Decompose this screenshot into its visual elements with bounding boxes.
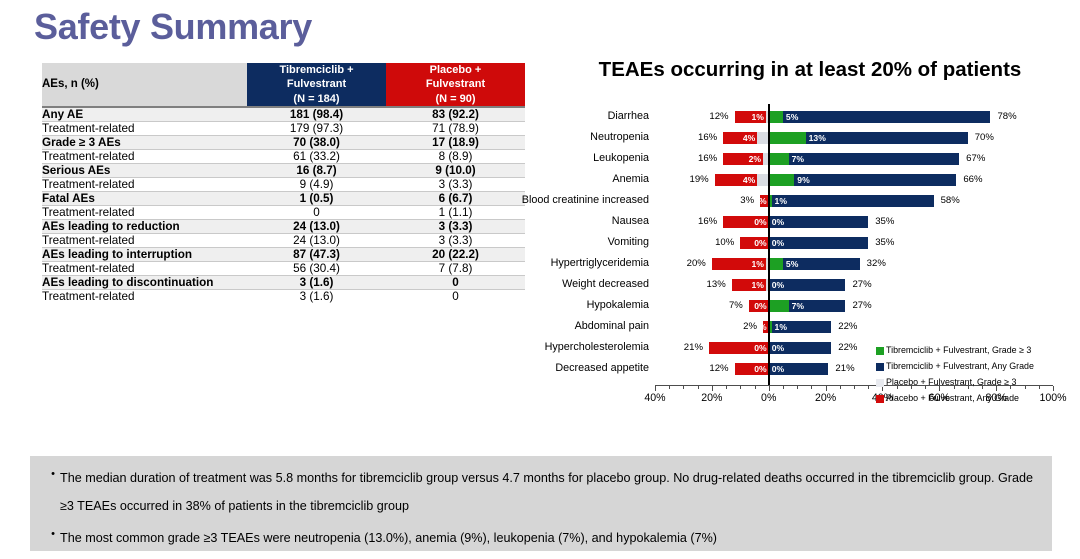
chart-legend: Tibremciclib + Fulvestrant, Grade ≥ 3Tib… xyxy=(876,345,1072,409)
safety-summary-table: AEs, n (%) Tibremciclib + Fulvestrant (N… xyxy=(42,63,525,303)
cell-tibremciclib: 0 xyxy=(247,205,386,219)
bar-segment-tibremciclib-grade3 xyxy=(769,153,789,165)
chart-bar-row: Vomiting0%10%0%35% xyxy=(540,232,1068,253)
row-label: Treatment-related xyxy=(42,149,247,163)
bar-segment-tibremciclib-grade3 xyxy=(769,132,806,144)
bar-category-label: Leukopenia xyxy=(499,148,649,169)
bar-label-placebo-grade3: 0% xyxy=(743,216,767,228)
table-row: Treatment-related9 (4.9)3 (3.3) xyxy=(42,177,525,191)
bar-label-tibremciclib-any-grade: 67% xyxy=(966,152,985,165)
arm2-line1: Placebo + xyxy=(386,63,525,77)
bar-label-tibremciclib-grade3: 7% xyxy=(792,153,804,165)
bar-label-tibremciclib-any-grade: 78% xyxy=(997,110,1016,123)
table-row: Treatment-related56 (30.4)7 (7.8) xyxy=(42,261,525,275)
cell-tibremciclib: 56 (30.4) xyxy=(247,261,386,275)
column-header-tibremciclib: Tibremciclib + Fulvestrant (N = 184) xyxy=(247,63,386,107)
bar-category-label: Abdominal pain xyxy=(499,316,649,337)
legend-item: Tibremciclib + Fulvestrant, Any Grade xyxy=(876,361,1072,372)
bar-label-tibremciclib-grade3: 13% xyxy=(809,132,826,144)
axis-tick xyxy=(712,386,713,391)
bar-label-placebo-grade3: 0% xyxy=(743,363,767,375)
table-row: AEs leading to interruption87 (47.3)20 (… xyxy=(42,247,525,261)
table-row: Serious AEs16 (8.7)9 (10.0) xyxy=(42,163,525,177)
row-label: Fatal AEs xyxy=(42,191,247,205)
zero-axis-line xyxy=(768,104,770,385)
bar-category-label: Hypercholesterolemia xyxy=(499,337,649,358)
bar-label-tibremciclib-any-grade: 21% xyxy=(835,362,854,375)
axis-tick xyxy=(826,386,827,391)
row-label: Treatment-related xyxy=(42,233,247,247)
bar-category-label: Nausea xyxy=(499,211,649,232)
table-row: AEs leading to discontinuation3 (1.6)0 xyxy=(42,275,525,289)
footer-bullet: • The most common grade ≥3 TEAEs were ne… xyxy=(30,520,1052,552)
legend-label: Placebo + Fulvestrant, Grade ≥ 3 xyxy=(886,377,1016,388)
bar-label-placebo-any-grade: 10% xyxy=(708,236,734,249)
row-label: AEs leading to discontinuation xyxy=(42,275,247,289)
row-label: Treatment-related xyxy=(42,205,247,219)
bar-segment-tibremciclib-grade3 xyxy=(769,111,783,123)
bar-label-tibremciclib-grade3: 0% xyxy=(772,216,784,228)
bar-segment-tibremciclib-any-grade xyxy=(783,111,991,123)
table-row: Any AE181 (98.4)83 (92.2) xyxy=(42,107,525,122)
bar-label-placebo-grade3: 4% xyxy=(731,132,755,144)
bar-label-tibremciclib-grade3: 5% xyxy=(786,258,798,270)
bar-category-label: Decreased appetite xyxy=(499,358,649,379)
footer-bullet: • The median duration of treatment was 5… xyxy=(30,456,1052,520)
bullet-marker: • xyxy=(46,464,60,520)
table-row: AEs leading to reduction24 (13.0)3 (3.3) xyxy=(42,219,525,233)
chart-bar-row: Neutropenia4%16%13%70% xyxy=(540,127,1068,148)
bar-segment-tibremciclib-grade3 xyxy=(769,300,789,312)
row-label: AEs leading to interruption xyxy=(42,247,247,261)
axis-tick xyxy=(840,386,841,389)
bar-label-tibremciclib-grade3: 9% xyxy=(797,174,809,186)
bar-label-placebo-any-grade: 13% xyxy=(700,278,726,291)
bar-segment-tibremciclib-any-grade xyxy=(794,174,956,186)
bar-category-label: Vomiting xyxy=(499,232,649,253)
chart-bar-row: Blood creatinine increased0%3%1%58% xyxy=(540,190,1068,211)
bar-label-placebo-any-grade: 12% xyxy=(703,362,729,375)
chart-bar-row: Leukopenia2%16%7%67% xyxy=(540,148,1068,169)
bar-label-placebo-grade3: 1% xyxy=(740,111,764,123)
axis-tick xyxy=(698,386,699,389)
axis-tick xyxy=(726,386,727,389)
axis-tick xyxy=(854,386,855,389)
bar-label-placebo-any-grade: 19% xyxy=(683,173,709,186)
arm2-line2: Fulvestrant xyxy=(386,77,525,91)
axis-tick xyxy=(740,386,741,389)
bar-label-tibremciclib-grade3: 5% xyxy=(786,111,798,123)
page-title: Safety Summary xyxy=(34,6,312,48)
cell-tibremciclib: 179 (97.3) xyxy=(247,121,386,135)
bar-label-tibremciclib-grade3: 0% xyxy=(772,363,784,375)
table-row: Grade ≥ 3 AEs70 (38.0)17 (18.9) xyxy=(42,135,525,149)
axis-tick xyxy=(783,386,784,389)
bar-label-tibremciclib-grade3: 1% xyxy=(775,321,787,333)
bar-category-label: Hypokalemia xyxy=(499,295,649,316)
bar-label-tibremciclib-any-grade: 32% xyxy=(867,257,886,270)
bar-category-label: Hypertriglyceridemia xyxy=(499,253,649,274)
axis-tick-label: 40% xyxy=(630,392,680,404)
table-row: Treatment-related3 (1.6)0 xyxy=(42,289,525,303)
cell-tibremciclib: 24 (13.0) xyxy=(247,233,386,247)
bar-label-tibremciclib-grade3: 7% xyxy=(792,300,804,312)
bar-segment-tibremciclib-grade3 xyxy=(769,258,783,270)
bar-segment-tibremciclib-grade3 xyxy=(769,174,795,186)
chart-bar-row: Weight decreased1%13%0%27% xyxy=(540,274,1068,295)
legend-item: Tibremciclib + Fulvestrant, Grade ≥ 3 xyxy=(876,345,1072,356)
bar-label-tibremciclib-any-grade: 66% xyxy=(963,173,982,186)
bar-label-tibremciclib-any-grade: 22% xyxy=(838,341,857,354)
bar-label-placebo-any-grade: 12% xyxy=(703,110,729,123)
bullet-marker: • xyxy=(46,524,60,552)
row-label: Treatment-related xyxy=(42,121,247,135)
bar-label-tibremciclib-grade3: 0% xyxy=(772,279,784,291)
chart-bar-row: Hypertriglyceridemia1%20%5%32% xyxy=(540,253,1068,274)
footer-notes: • The median duration of treatment was 5… xyxy=(30,456,1052,551)
bar-label-tibremciclib-grade3: 0% xyxy=(772,342,784,354)
arm1-line3: (N = 184) xyxy=(247,92,386,106)
axis-tick xyxy=(868,386,869,389)
cell-tibremciclib: 24 (13.0) xyxy=(247,219,386,233)
bar-label-tibremciclib-any-grade: 27% xyxy=(852,299,871,312)
arm1-line2: Fulvestrant xyxy=(247,77,386,91)
cell-tibremciclib: 70 (38.0) xyxy=(247,135,386,149)
table-header: AEs, n (%) Tibremciclib + Fulvestrant (N… xyxy=(42,63,525,107)
bar-category-label: Neutropenia xyxy=(499,127,649,148)
bar-category-label: Diarrhea xyxy=(499,106,649,127)
cell-tibremciclib: 3 (1.6) xyxy=(247,275,386,289)
bar-label-placebo-grade3: 0% xyxy=(743,300,767,312)
bar-segment-tibremciclib-any-grade xyxy=(806,132,968,144)
table-row: Treatment-related01 (1.1) xyxy=(42,205,525,219)
axis-tick-label: 0% xyxy=(744,392,794,404)
chart-title: TEAEs occurring in at least 20% of patie… xyxy=(560,58,1060,82)
bar-label-placebo-any-grade: 7% xyxy=(717,299,743,312)
row-label: AEs leading to reduction xyxy=(42,219,247,233)
axis-tick-label: 20% xyxy=(801,392,851,404)
bar-label-placebo-grade3: 1% xyxy=(740,279,764,291)
axis-tick xyxy=(755,386,756,389)
bar-label-placebo-any-grade: 3% xyxy=(728,194,754,207)
chart-bar-row: Hypokalemia0%7%7%27% xyxy=(540,295,1068,316)
bar-label-tibremciclib-grade3: 0% xyxy=(772,237,784,249)
column-header-aes: AEs, n (%) xyxy=(42,63,247,107)
bar-label-placebo-any-grade: 2% xyxy=(731,320,757,333)
column-header-placebo: Placebo + Fulvestrant (N = 90) xyxy=(386,63,525,107)
table-body: Any AE181 (98.4)83 (92.2)Treatment-relat… xyxy=(42,107,525,303)
axis-tick-label: 20% xyxy=(687,392,737,404)
bullet-text: The median duration of treatment was 5.8… xyxy=(60,464,1034,520)
table-row: Treatment-related61 (33.2)8 (8.9) xyxy=(42,149,525,163)
arm1-line1: Tibremciclib + xyxy=(247,63,386,77)
bar-label-placebo-any-grade: 16% xyxy=(691,152,717,165)
cell-tibremciclib: 181 (98.4) xyxy=(247,107,386,122)
bar-label-placebo-grade3: 1% xyxy=(740,258,764,270)
row-label: Serious AEs xyxy=(42,163,247,177)
cell-tibremciclib: 9 (4.9) xyxy=(247,177,386,191)
bullet-text: The most common grade ≥3 TEAEs were neut… xyxy=(60,524,717,552)
bar-label-placebo-grade3: 2% xyxy=(737,153,761,165)
table-row: Fatal AEs1 (0.5)6 (6.7) xyxy=(42,191,525,205)
legend-item: Placebo + Fulvestrant, Grade ≥ 3 xyxy=(876,377,1072,388)
bar-label-tibremciclib-any-grade: 22% xyxy=(838,320,857,333)
cell-tibremciclib: 16 (8.7) xyxy=(247,163,386,177)
bar-label-placebo-any-grade: 16% xyxy=(691,215,717,228)
legend-label: Tibremciclib + Fulvestrant, Grade ≥ 3 xyxy=(886,345,1031,356)
bar-label-placebo-grade3: 4% xyxy=(731,174,755,186)
bar-label-placebo-any-grade: 16% xyxy=(691,131,717,144)
chart-bar-row: Diarrhea1%12%5%78% xyxy=(540,106,1068,127)
cell-tibremciclib: 1 (0.5) xyxy=(247,191,386,205)
bar-label-placebo-any-grade: 21% xyxy=(677,341,703,354)
axis-tick xyxy=(669,386,670,389)
table-row: Treatment-related179 (97.3)71 (78.9) xyxy=(42,121,525,135)
row-label: Any AE xyxy=(42,107,247,122)
bar-label-placebo-grade3: 0% xyxy=(743,342,767,354)
axis-tick xyxy=(683,386,684,389)
row-label: Treatment-related xyxy=(42,261,247,275)
bar-segment-tibremciclib-any-grade xyxy=(789,153,960,165)
row-label: Treatment-related xyxy=(42,177,247,191)
axis-tick xyxy=(655,386,656,391)
bar-label-tibremciclib-any-grade: 35% xyxy=(875,215,894,228)
chart-bar-row: Abdominal pain0%2%1%22% xyxy=(540,316,1068,337)
row-label: Treatment-related xyxy=(42,289,247,303)
bar-label-tibremciclib-grade3: 1% xyxy=(775,195,787,207)
bar-label-tibremciclib-any-grade: 35% xyxy=(875,236,894,249)
bar-category-label: Anemia xyxy=(499,169,649,190)
bar-category-label: Weight decreased xyxy=(499,274,649,295)
legend-swatch-icon xyxy=(876,363,884,371)
legend-swatch-icon xyxy=(876,379,884,387)
chart-bar-row: Nausea0%16%0%35% xyxy=(540,211,1068,232)
bar-label-tibremciclib-any-grade: 70% xyxy=(975,131,994,144)
arm2-line3: (N = 90) xyxy=(386,92,525,106)
bar-label-tibremciclib-any-grade: 58% xyxy=(941,194,960,207)
cell-tibremciclib: 61 (33.2) xyxy=(247,149,386,163)
bar-label-tibremciclib-any-grade: 27% xyxy=(852,278,871,291)
legend-label: Tibremciclib + Fulvestrant, Any Grade xyxy=(886,361,1034,372)
axis-tick xyxy=(811,386,812,389)
legend-item: Placebo + Fulvestrant, Any Grade xyxy=(876,393,1072,404)
bar-segment-tibremciclib-any-grade xyxy=(772,195,934,207)
cell-tibremciclib: 87 (47.3) xyxy=(247,247,386,261)
legend-swatch-icon xyxy=(876,347,884,355)
bar-category-label: Blood creatinine increased xyxy=(499,190,649,211)
axis-tick xyxy=(769,386,770,391)
bar-label-placebo-grade3: 0% xyxy=(743,237,767,249)
chart-bar-row: Anemia4%19%9%66% xyxy=(540,169,1068,190)
table-header-row: AEs, n (%) Tibremciclib + Fulvestrant (N… xyxy=(42,63,525,107)
axis-tick xyxy=(797,386,798,389)
table-row: Treatment-related24 (13.0)3 (3.3) xyxy=(42,233,525,247)
legend-label: Placebo + Fulvestrant, Any Grade xyxy=(886,393,1019,404)
row-label: Grade ≥ 3 AEs xyxy=(42,135,247,149)
bar-label-placebo-any-grade: 20% xyxy=(680,257,706,270)
cell-tibremciclib: 3 (1.6) xyxy=(247,289,386,303)
legend-swatch-icon xyxy=(876,395,884,403)
